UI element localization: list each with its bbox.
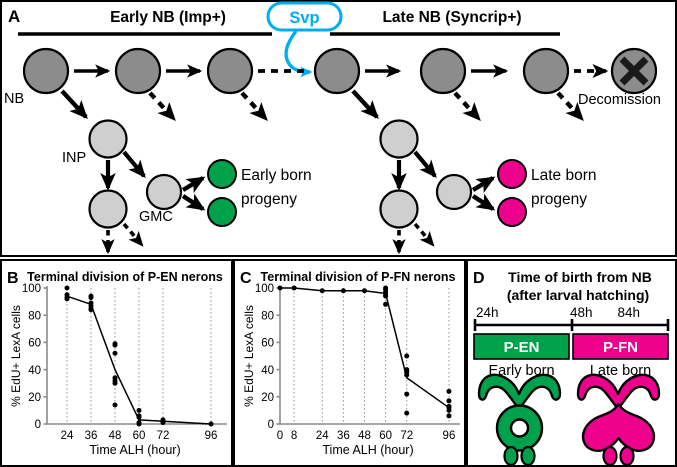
data-point bbox=[446, 398, 451, 403]
x-tick-label: 96 bbox=[205, 430, 218, 442]
data-point bbox=[446, 389, 451, 394]
y-axis-label: % EdU+ LexA cells bbox=[9, 305, 23, 407]
late-progeny-circle-2 bbox=[498, 198, 526, 226]
panel-d-title-line1: Time of birth from NB bbox=[508, 269, 652, 285]
panel-c-title: Terminal division of P-FN nerons bbox=[261, 270, 456, 284]
x-tick-label: 8 bbox=[291, 430, 297, 442]
x-tick-label: 60 bbox=[133, 430, 146, 442]
x-tick-label: 24 bbox=[316, 430, 329, 442]
x-tick-label: 36 bbox=[337, 430, 350, 442]
x-axis-label: Time ALH (hour) bbox=[89, 443, 180, 457]
nb-circle-4 bbox=[315, 49, 359, 93]
data-point bbox=[113, 351, 118, 356]
inp-circle-right-2 bbox=[381, 191, 418, 228]
data-point bbox=[137, 422, 142, 427]
nb-circle-2 bbox=[116, 49, 160, 93]
y-tick-label: 20 bbox=[261, 392, 274, 404]
data-point bbox=[113, 402, 118, 407]
x-tick-label: 48 bbox=[358, 430, 371, 442]
x-tick-label: 60 bbox=[379, 430, 392, 442]
y-tick-label: 0 bbox=[35, 419, 41, 431]
data-point bbox=[137, 408, 142, 413]
x-axis-label: Time ALH (hour) bbox=[322, 443, 413, 457]
panel-c-label: C bbox=[240, 270, 252, 287]
y-tick-label: 40 bbox=[261, 365, 274, 377]
data-point bbox=[446, 408, 451, 413]
timeline-tick-label-1: 48h bbox=[570, 305, 593, 320]
data-point bbox=[113, 343, 118, 348]
timeline-tick-label-0: 24h bbox=[476, 305, 499, 320]
early-nb-header: Early NB (Imp+) bbox=[110, 9, 226, 26]
y-axis-label: % EdU+ LexA cells bbox=[242, 305, 256, 407]
x-tick-label: 24 bbox=[61, 430, 74, 442]
data-point bbox=[404, 354, 409, 359]
gmc-label: GMC bbox=[139, 209, 173, 225]
y-tick-label: 80 bbox=[261, 310, 274, 322]
data-point bbox=[446, 413, 451, 418]
inp-circle-right bbox=[381, 121, 418, 158]
early-progeny-circle-1 bbox=[208, 160, 236, 188]
y-tick-label: 0 bbox=[268, 419, 274, 431]
p-fn-bar-label: P-FN bbox=[603, 339, 638, 356]
nb-circle-5 bbox=[421, 49, 465, 93]
inp-label: INP bbox=[62, 150, 86, 166]
nb-label: NB bbox=[4, 91, 24, 107]
panel-b-title: Terminal division of P-EN nerons bbox=[27, 270, 223, 284]
data-point bbox=[404, 392, 409, 397]
y-tick-label: 60 bbox=[261, 338, 274, 350]
x-tick-label: 0 bbox=[277, 430, 283, 442]
timeline-tick-label-2: 84h bbox=[617, 305, 640, 320]
nb-circle-1 bbox=[24, 49, 68, 93]
late-progeny-line1: Late born bbox=[531, 167, 597, 184]
inp-circle-left bbox=[90, 121, 127, 158]
early-progeny-line2: progeny bbox=[241, 191, 297, 208]
data-point bbox=[89, 295, 94, 300]
panel-d-title-line2: (after larval hatching) bbox=[507, 287, 649, 303]
x-tick-label: 48 bbox=[109, 430, 122, 442]
y-tick-label: 100 bbox=[255, 283, 274, 295]
panel-b-label: B bbox=[7, 270, 19, 287]
p-en-bar-label: P-EN bbox=[504, 339, 540, 356]
figure-root: A Early NB (Imp+) Late NB (Syncrip+) Svp… bbox=[0, 0, 677, 467]
y-tick-label: 20 bbox=[28, 392, 41, 404]
nb-circle-6 bbox=[524, 49, 568, 93]
x-tick-label: 72 bbox=[157, 430, 170, 442]
data-point bbox=[65, 286, 70, 291]
svp-label: Svp bbox=[289, 9, 319, 27]
y-tick-label: 80 bbox=[28, 310, 41, 322]
data-point bbox=[113, 381, 118, 386]
y-tick-label: 100 bbox=[22, 283, 41, 295]
late-progeny-line2: progeny bbox=[531, 191, 587, 208]
early-progeny-circle-2 bbox=[208, 198, 236, 226]
panel-a-label: A bbox=[8, 7, 20, 26]
x-tick-label: 72 bbox=[400, 430, 413, 442]
decommission-label: Decomission bbox=[578, 92, 661, 108]
nb-circle-3 bbox=[208, 49, 252, 93]
x-tick-label: 96 bbox=[443, 430, 456, 442]
inp-circle-left-2 bbox=[90, 191, 127, 228]
late-nb-header: Late NB (Syncrip+) bbox=[382, 9, 521, 26]
panel-d-label: D bbox=[473, 270, 485, 287]
data-point bbox=[404, 411, 409, 416]
x-tick-label: 36 bbox=[85, 430, 98, 442]
y-tick-label: 40 bbox=[28, 365, 41, 377]
gmc-circle-left bbox=[147, 175, 181, 209]
gmc-circle-right bbox=[437, 175, 471, 209]
y-tick-label: 60 bbox=[28, 338, 41, 350]
early-progeny-line1: Early born bbox=[241, 167, 312, 184]
late-progeny-circle-1 bbox=[498, 160, 526, 188]
